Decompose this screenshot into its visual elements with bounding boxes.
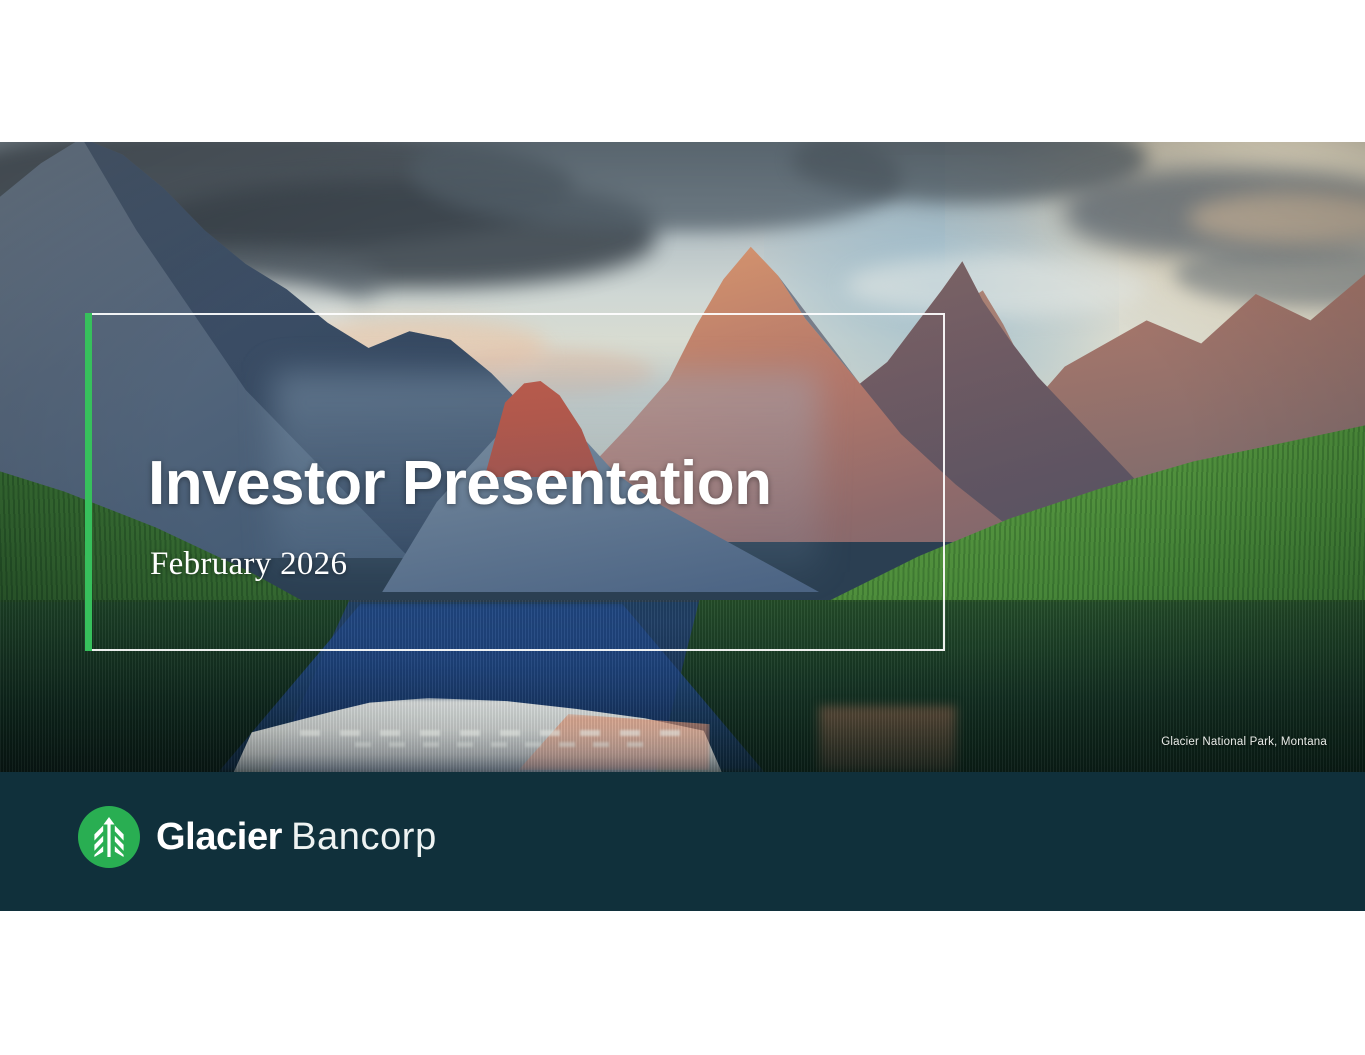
brand-name-secondary: Bancorp (291, 818, 437, 856)
brand-wordmark: Glacier Bancorp (156, 818, 437, 856)
glacier-tree-mark-icon (78, 806, 140, 868)
brand-name-primary: Glacier (156, 818, 282, 856)
lake-surface-streak (300, 730, 682, 736)
frame-green-accent-bar (85, 313, 92, 651)
title-slide: Glacier National Park, Montana Investor … (0, 0, 1365, 1055)
lake-surface-streak (355, 742, 655, 747)
page-title: Investor Presentation (148, 452, 771, 516)
presentation-date: February 2026 (150, 546, 347, 583)
brand-lockup: Glacier Bancorp (78, 806, 437, 868)
photo-credit-caption: Glacier National Park, Montana (1161, 736, 1327, 748)
